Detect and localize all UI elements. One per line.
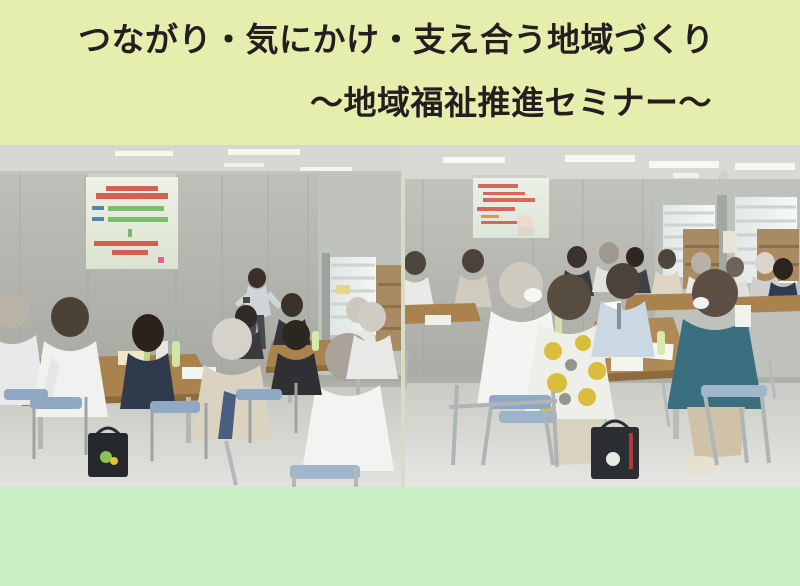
- projection-screen: [84, 173, 178, 269]
- page-header-banner: つながり・気にかけ・支え合う地域づくり 〜地域福祉推進セミナー〜: [0, 0, 800, 145]
- group-work-scene-illustration: 4: [405, 145, 800, 487]
- group-discussion-photo: 4: [405, 145, 800, 487]
- seminar-report-page: つながり・気にかけ・支え合う地域づくり 〜地域福祉推進セミナー〜: [0, 0, 800, 586]
- page-footer-band: [0, 487, 800, 586]
- page-subtitle-line-2: 〜地域福祉推進セミナー〜: [310, 83, 712, 123]
- photo-strip: 4: [0, 145, 800, 487]
- projection-screen: [471, 175, 549, 238]
- seminar-lecture-photo: [0, 145, 401, 487]
- floor-handbag: [591, 421, 639, 479]
- page-title-line-1: つながり・気にかけ・支え合う地域づくり: [78, 20, 715, 60]
- floor-bag: [88, 428, 128, 477]
- lecture-scene-illustration: [0, 145, 401, 487]
